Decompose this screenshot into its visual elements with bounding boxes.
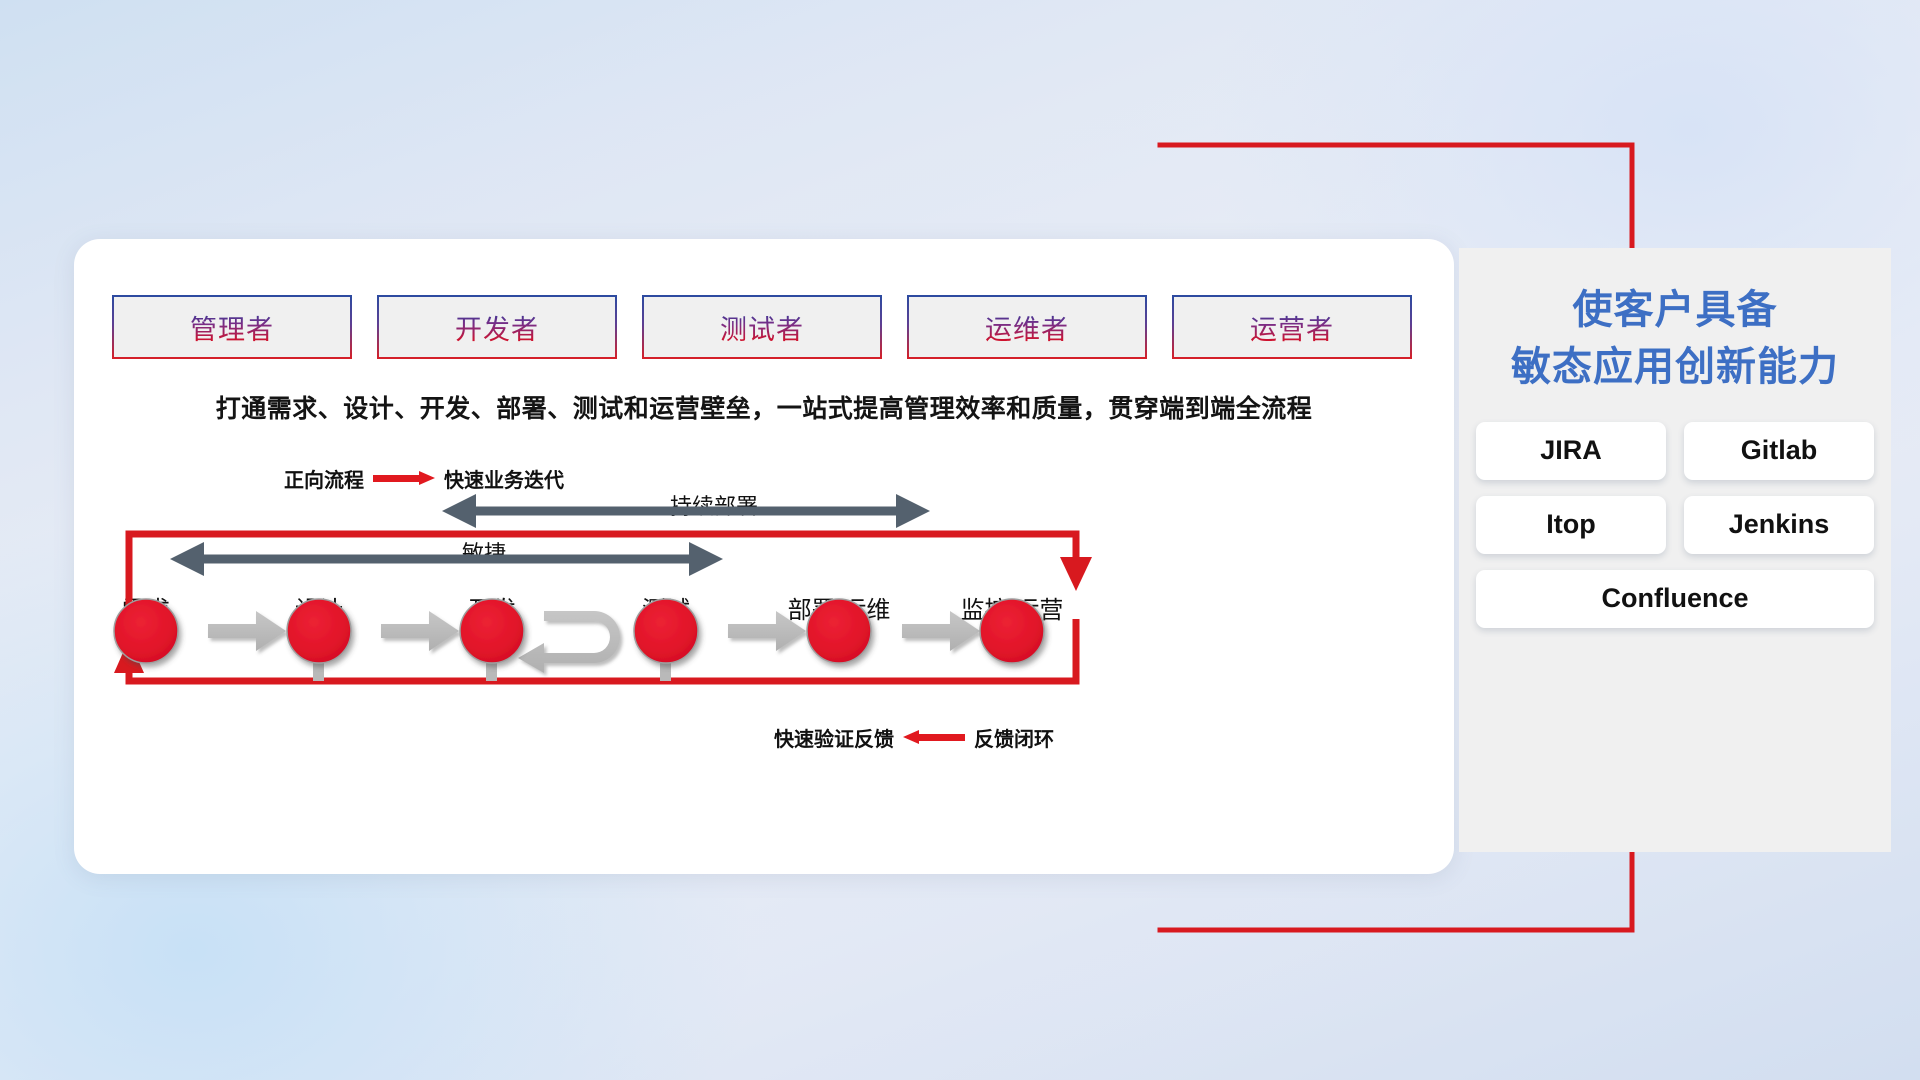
pipeline-graphics [74, 239, 1454, 874]
devops-main-card: 管理者 开发者 测试者 运维者 运营者 打通需求、设计、开发、部署、测试和运营壁… [74, 239, 1454, 874]
u-turn-loop-arrow [518, 611, 620, 673]
tool-chip-confluence[interactable]: Confluence [1476, 570, 1874, 628]
capability-panel: 使客户具备 敏态应用创新能力 JIRA Gitlab Itop Jenkins … [1459, 248, 1891, 852]
stage-node-2 [460, 599, 524, 663]
tool-chip-itop[interactable]: Itop [1476, 496, 1666, 554]
tool-label: Confluence [1601, 583, 1748, 614]
stage-node-4 [807, 599, 871, 663]
arrow-continuous-deploy [442, 494, 930, 528]
tool-label: JIRA [1540, 435, 1602, 466]
panel-title-line1: 使客户具备 [1459, 282, 1891, 339]
tool-chip-jira[interactable]: JIRA [1476, 422, 1666, 480]
panel-title-line2: 敏态应用创新能力 [1459, 339, 1891, 396]
tool-label: Gitlab [1741, 435, 1818, 466]
stage-node-1 [287, 599, 351, 663]
stage-node-0 [114, 599, 178, 663]
arrow-agile [170, 542, 723, 576]
tool-label: Jenkins [1729, 509, 1830, 540]
stage-node-5 [980, 599, 1044, 663]
tool-label: Itop [1546, 509, 1595, 540]
tool-chip-gitlab[interactable]: Gitlab [1684, 422, 1874, 480]
tools-grid: JIRA Gitlab Itop Jenkins Confluence [1476, 422, 1874, 628]
tool-chip-jenkins[interactable]: Jenkins [1684, 496, 1874, 554]
panel-title: 使客户具备 敏态应用创新能力 [1459, 282, 1891, 396]
stage-node-3 [634, 599, 698, 663]
